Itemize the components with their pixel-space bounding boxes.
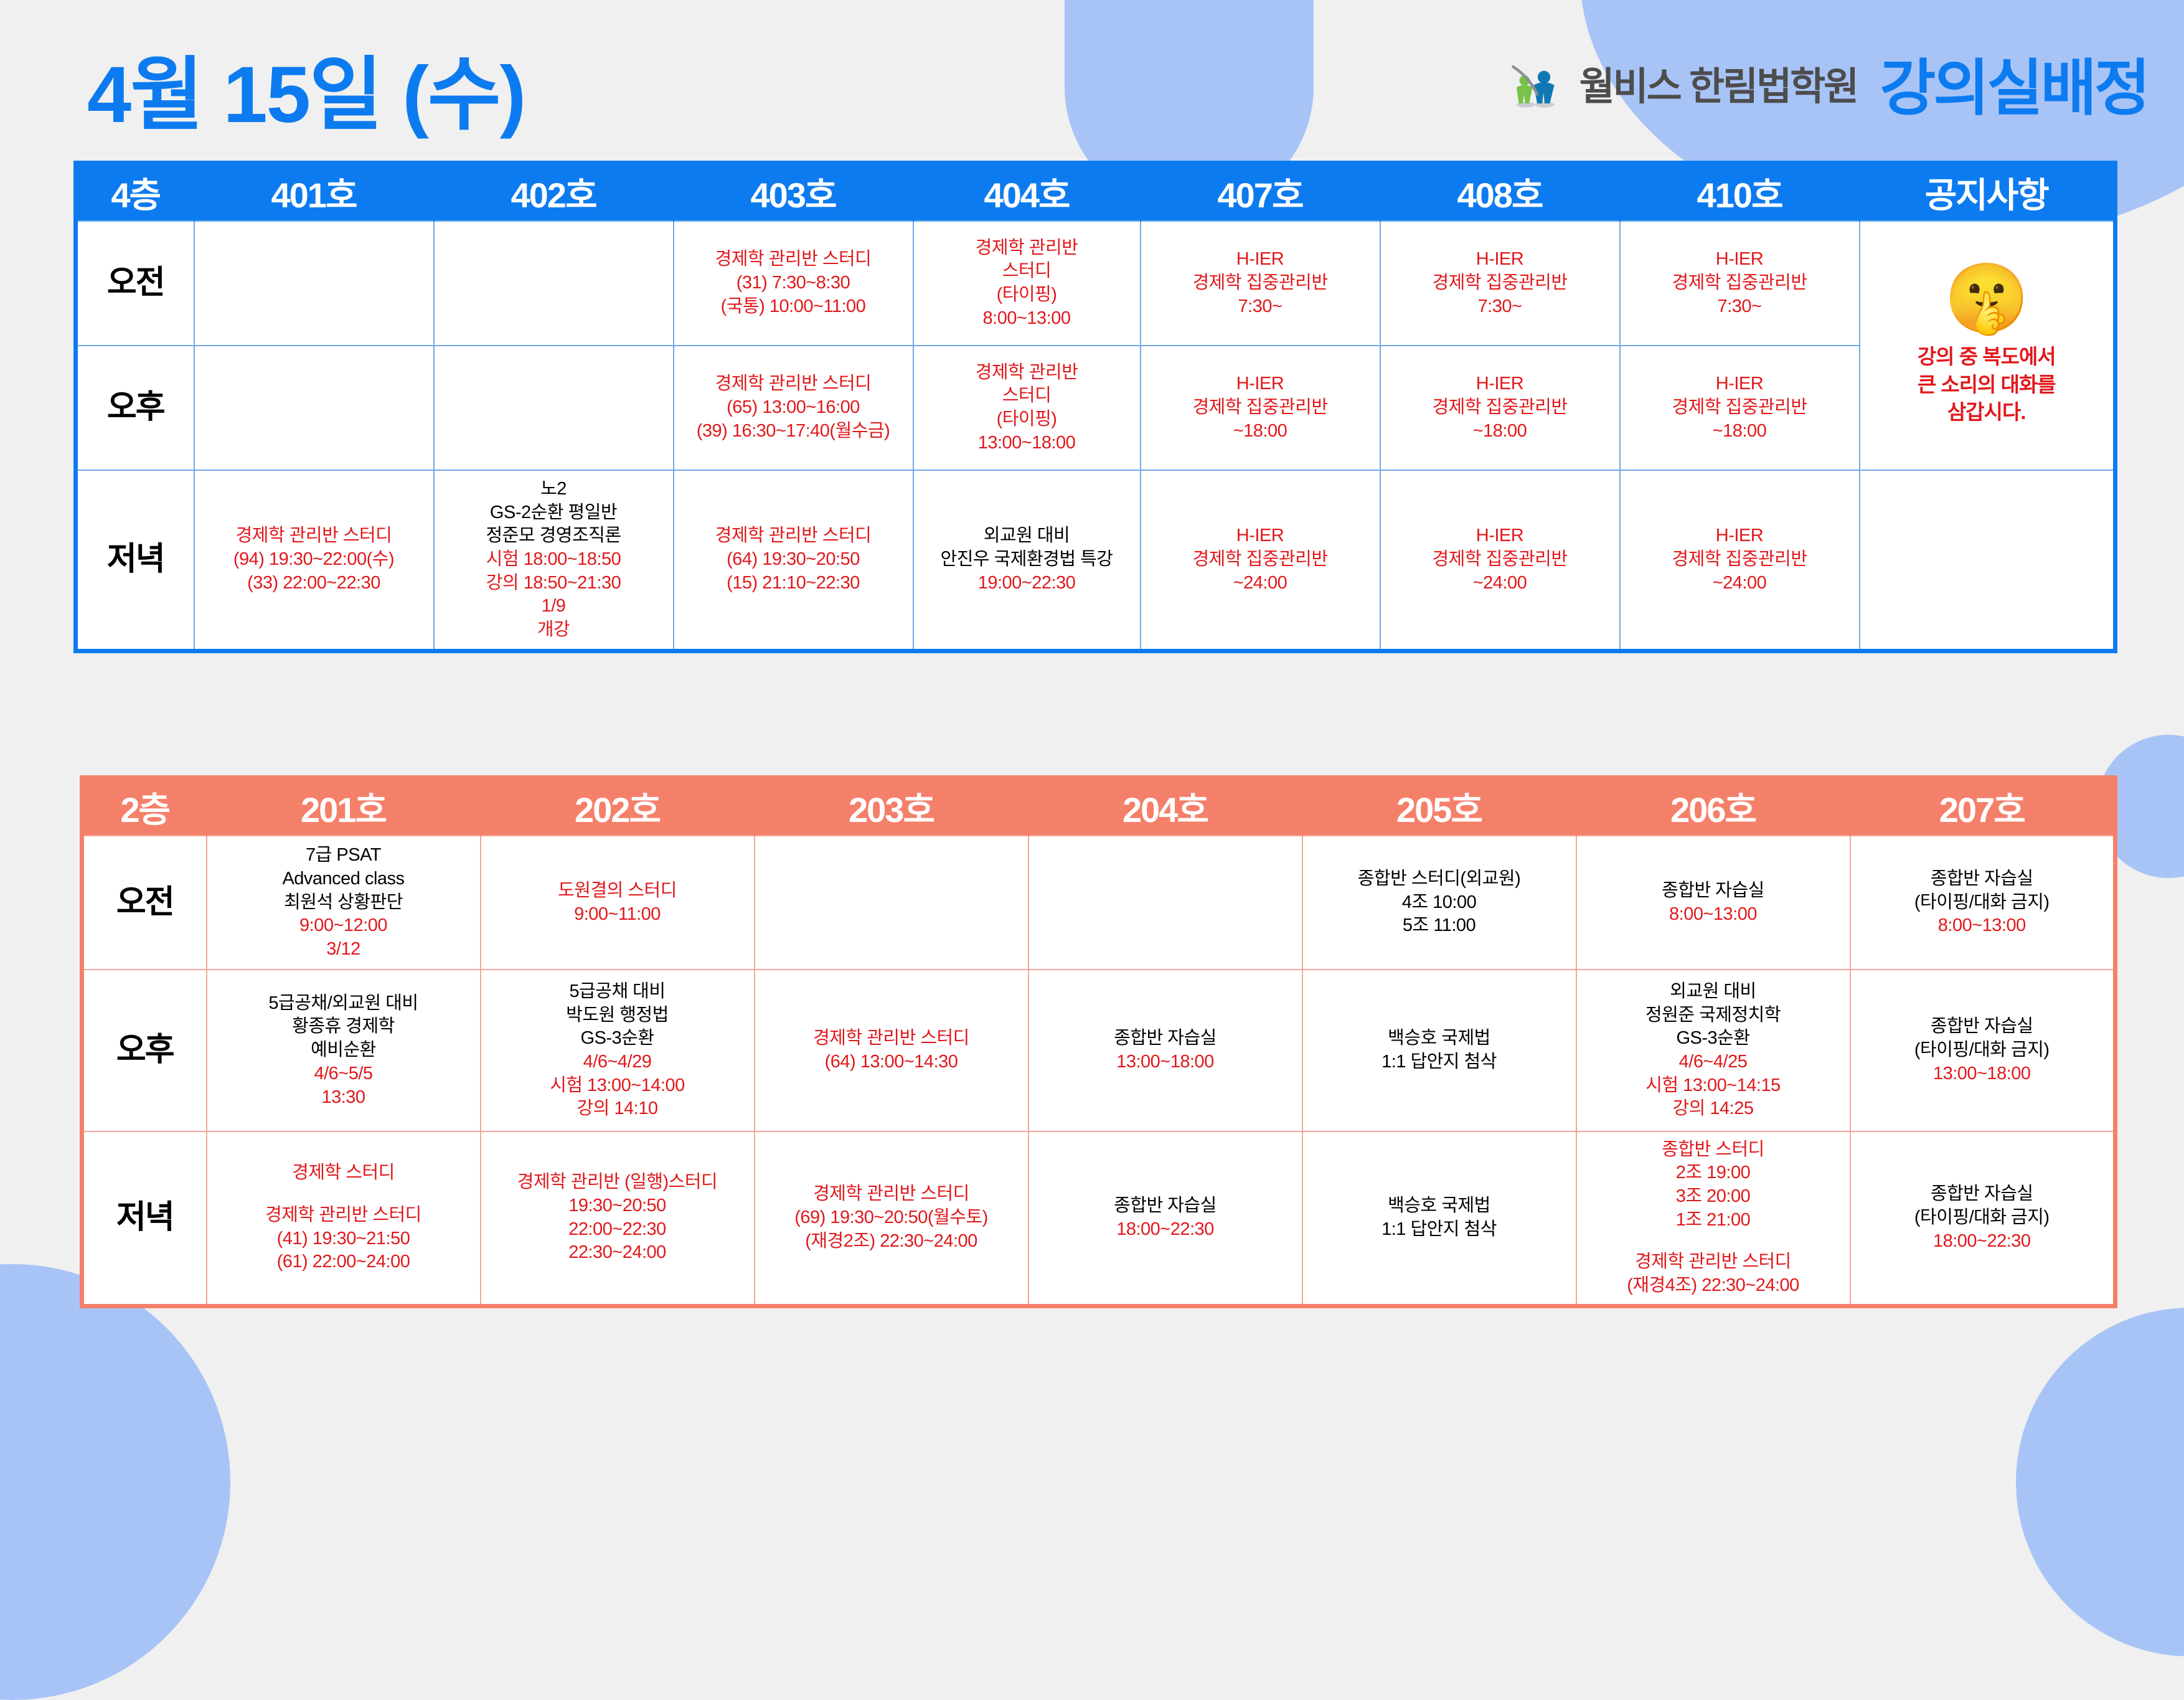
cell-line: H-IER — [1145, 524, 1376, 548]
cell-line: 종합반 자습실 — [1855, 867, 2110, 891]
column-header-408: 408호 — [1380, 163, 1620, 222]
cell-line: (타이핑) — [918, 408, 1136, 432]
cell-f2-evening-203: 경제학 관리반 스터디(69) 19:30~20:50(월수토)(재경2조) 2… — [755, 1131, 1028, 1306]
column-header-404: 404호 — [913, 163, 1141, 222]
cell-line: (64) 19:30~20:50 — [678, 548, 909, 572]
cell-f4-afternoon-401 — [194, 346, 434, 470]
cell-line: 경제학 관리반 스터디 — [199, 524, 430, 548]
cell-f4-morning-403: 경제학 관리반 스터디(31) 7:30~8:30(국통) 10:00~11:0… — [674, 221, 913, 346]
cell-f2-evening-206: 종합반 스터디2조 19:003조 20:001조 21:00경제학 관리반 스… — [1576, 1131, 1850, 1306]
cell-line: (64) 13:00~14:30 — [759, 1051, 1024, 1074]
table-row: 오전 7급 PSATAdvanced class최원석 상황판단9:00~12:… — [82, 836, 2116, 970]
cell-line: 9:00~11:00 — [485, 903, 750, 927]
cell-f4-afternoon-402 — [434, 346, 674, 470]
column-header-403: 403호 — [674, 163, 913, 222]
cell-line: (94) 19:30~22:00(수) — [199, 548, 430, 572]
cell-line: 경제학 관리반 스터디 — [759, 1183, 1024, 1206]
cell-content: 백승호 국제법1:1 답안지 첨삭 — [1307, 1194, 1572, 1241]
cell-line: 노2 — [438, 478, 669, 501]
cell-content: H-IER경제학 집중관리반~18:00 — [1624, 372, 1855, 443]
cell-content: 경제학 관리반 스터디(31) 7:30~8:30(국통) 10:00~11:0… — [678, 248, 909, 318]
cell-line: 8:00~13:00 — [1581, 903, 1846, 927]
cell-line: 종합반 자습실 — [1033, 1194, 1298, 1218]
cell-f4-evening-notice — [1860, 470, 2116, 651]
cell-f2-morning-201: 7급 PSATAdvanced class최원석 상황판단9:00~12:003… — [207, 836, 481, 970]
cell-line: 종합반 자습실 — [1033, 1027, 1298, 1051]
cell-line: 경제학 집중관리반 — [1624, 272, 1855, 295]
cell-line: 경제학 관리반 — [918, 237, 1136, 260]
cell-f4-afternoon-410: H-IER경제학 집중관리반~18:00 — [1620, 346, 1860, 470]
column-header-207: 207호 — [1850, 778, 2116, 836]
cell-line: 강의 14:10 — [485, 1097, 750, 1121]
cell-content: 종합반 스터디2조 19:003조 20:001조 21:00경제학 관리반 스… — [1581, 1138, 1846, 1298]
notice-line-1: 강의 중 복도에서 — [1918, 343, 2056, 371]
cell-line: 13:00~18:00 — [918, 432, 1136, 455]
cell-line: 백승호 국제법 — [1307, 1194, 1572, 1218]
cell-line: ~18:00 — [1624, 420, 1855, 443]
table-header-row-floor2: 2층 201호 202호 203호 204호 205호 206호 207호 — [82, 778, 2116, 836]
column-header-203: 203호 — [755, 778, 1028, 836]
cell-line: GS-2순환 평일반 — [438, 501, 669, 525]
cell-line: (39) 16:30~17:40(월수금) — [678, 420, 909, 443]
cell-line: 경제학 집중관리반 — [1145, 548, 1376, 572]
cell-line: 경제학 스터디 — [211, 1161, 476, 1185]
cell-line: 5급공채/외교원 대비 — [211, 992, 476, 1016]
cell-line: 경제학 관리반 스터디 — [678, 372, 909, 396]
cell-line: 개강 — [438, 618, 669, 642]
table-row: 저녁 경제학 관리반 스터디(94) 19:30~22:00(수)(33) 22… — [76, 470, 2116, 651]
cell-line: 4/6~5/5 — [211, 1062, 476, 1086]
cell-f4-morning-408: H-IER경제학 집중관리반7:30~ — [1380, 221, 1620, 346]
cell-f2-evening-205: 백승호 국제법1:1 답안지 첨삭 — [1302, 1131, 1576, 1306]
cell-f2-afternoon-202: 5급공채 대비박도원 행정법GS-3순환4/6~4/29시험 13:00~14:… — [481, 970, 755, 1131]
cell-line: 종합반 스터디(외교원) — [1307, 867, 1572, 891]
cell-content: H-IER경제학 집중관리반~24:00 — [1145, 524, 1376, 595]
cell-f4-afternoon-408: H-IER경제학 집중관리반~18:00 — [1380, 346, 1620, 470]
cell-line: 경제학 관리반 스터디 — [759, 1027, 1024, 1051]
column-header-notice: 공지사항 — [1860, 163, 2116, 222]
cell-line: 경제학 집중관리반 — [1624, 396, 1855, 420]
cell-line: (재경2조) 22:30~24:00 — [759, 1230, 1024, 1254]
column-header-205: 205호 — [1302, 778, 1576, 836]
cell-content: 백승호 국제법1:1 답안지 첨삭 — [1307, 1027, 1572, 1074]
cell-line: 경제학 집중관리반 — [1385, 548, 1616, 572]
cell-line: 종합반 자습실 — [1855, 1183, 2110, 1206]
cell-line: 18:00~22:30 — [1033, 1218, 1298, 1242]
cell-line: 경제학 관리반 — [918, 361, 1136, 385]
cell-content: 종합반 자습실(타이핑/대화 금지)18:00~22:30 — [1855, 1183, 2110, 1253]
cell-content: 경제학 관리반스터디(타이핑)8:00~13:00 — [918, 237, 1136, 331]
cell-line: ~24:00 — [1385, 572, 1616, 595]
cell-f4-evening-402: 노2GS-2순환 평일반정준모 경영조직론시험 18:00~18:50강의 18… — [434, 470, 674, 651]
cell-line: 경제학 관리반 스터디 — [1581, 1250, 1846, 1274]
cell-content: 경제학 관리반스터디(타이핑)13:00~18:00 — [918, 361, 1136, 455]
cell-line: H-IER — [1385, 248, 1616, 272]
cell-line: 강의 14:25 — [1581, 1097, 1846, 1121]
row-label-afternoon-f4: 오후 — [76, 346, 194, 470]
cell-line-spacer — [211, 1185, 476, 1204]
cell-f4-evening-404: 외교원 대비안진우 국제환경법 특강19:00~22:30 — [913, 470, 1141, 651]
cell-line: 7:30~ — [1385, 295, 1616, 319]
cell-f2-afternoon-204: 종합반 자습실13:00~18:00 — [1028, 970, 1302, 1131]
cell-line: 종합반 스터디 — [1581, 1138, 1846, 1162]
cell-line: 9:00~12:00 — [211, 914, 476, 938]
column-header-401: 401호 — [194, 163, 434, 222]
column-header-206: 206호 — [1576, 778, 1850, 836]
cell-line: 도원결의 스터디 — [485, 879, 750, 903]
cell-line: 8:00~13:00 — [918, 307, 1136, 331]
cell-line: H-IER — [1385, 524, 1616, 548]
brand-name: 월비스 한림법학원 — [1579, 55, 1858, 111]
cell-f4-morning-410: H-IER경제학 집중관리반7:30~ — [1620, 221, 1860, 346]
cell-f2-morning-202: 도원결의 스터디9:00~11:00 — [481, 836, 755, 970]
cell-content: 5급공채/외교원 대비황종휴 경제학예비순환4/6~5/513:30 — [211, 992, 476, 1109]
cell-line: H-IER — [1624, 372, 1855, 396]
cell-line: 강의 18:50~21:30 — [438, 572, 669, 595]
cell-content: 외교원 대비정원준 국제정치학GS-3순환4/6~4/25시험 13:00~14… — [1581, 980, 1846, 1121]
cell-line: 13:30 — [211, 1086, 476, 1110]
cell-line: 13:00~18:00 — [1033, 1051, 1298, 1074]
cell-line: 박도원 행정법 — [485, 1004, 750, 1027]
cell-line: Advanced class — [211, 867, 476, 891]
cell-line: 19:00~22:30 — [918, 572, 1136, 595]
cell-line: 경제학 집중관리반 — [1385, 396, 1616, 420]
table-row: 저녁 경제학 스터디경제학 관리반 스터디(41) 19:30~21:50(61… — [82, 1131, 2116, 1306]
column-header-410: 410호 — [1620, 163, 1860, 222]
cell-line: (타이핑/대화 금지) — [1855, 891, 2110, 915]
cell-f2-evening-204: 종합반 자습실18:00~22:30 — [1028, 1131, 1302, 1306]
cell-line: (타이핑/대화 금지) — [1855, 1039, 2110, 1062]
table-row: 오후 경제학 관리반 스터디(65) 13:00~16:00(39) 16:30… — [76, 346, 2116, 470]
cell-line: 최원석 상황판단 — [211, 891, 476, 915]
cell-line: 7급 PSAT — [211, 844, 476, 867]
table-row: 오전 경제학 관리반 스터디(31) 7:30~8:30(국통) 10:00~1… — [76, 221, 2116, 346]
column-header-202: 202호 — [481, 778, 755, 836]
cell-line: (33) 22:00~22:30 — [199, 572, 430, 595]
cell-content: H-IER경제학 집중관리반~18:00 — [1145, 372, 1376, 443]
cell-line: H-IER — [1624, 248, 1855, 272]
cell-f2-evening-207: 종합반 자습실(타이핑/대화 금지)18:00~22:30 — [1850, 1131, 2116, 1306]
cell-line: 19:30~20:50 — [485, 1194, 750, 1218]
cell-line: 4/6~4/29 — [485, 1051, 750, 1074]
cell-line: 경제학 집중관리반 — [1145, 396, 1376, 420]
cell-content: 경제학 관리반 스터디(64) 13:00~14:30 — [759, 1027, 1024, 1074]
cell-line: 1:1 답안지 첨삭 — [1307, 1218, 1572, 1242]
cell-line: 5급공채 대비 — [485, 980, 750, 1004]
cell-line: 1조 21:00 — [1581, 1209, 1846, 1232]
cell-line: GS-3순환 — [1581, 1027, 1846, 1051]
cell-line: ~24:00 — [1145, 572, 1376, 595]
cell-content: H-IER경제학 집중관리반7:30~ — [1145, 248, 1376, 318]
cell-line: 경제학 관리반 (일행)스터디 — [485, 1171, 750, 1194]
row-label-morning-f4: 오전 — [76, 221, 194, 346]
cell-line: 시험 18:00~18:50 — [438, 548, 669, 572]
cell-f2-evening-202: 경제학 관리반 (일행)스터디19:30~20:5022:00~22:3022:… — [481, 1131, 755, 1306]
page-header: 4월 15일 (수) 월비스 한림법학원 강의실배정 — [0, 0, 2184, 156]
cell-content: H-IER경제학 집중관리반~24:00 — [1624, 524, 1855, 595]
schedule-table-floor2: 2층 201호 202호 203호 204호 205호 206호 207호 오전… — [80, 775, 2117, 1308]
cell-content: 종합반 자습실8:00~13:00 — [1581, 879, 1846, 926]
cell-content: 5급공채 대비박도원 행정법GS-3순환4/6~4/29시험 13:00~14:… — [485, 980, 750, 1121]
cell-line: 스터디 — [918, 384, 1136, 408]
cell-f2-morning-204 — [1028, 836, 1302, 970]
cell-line: (69) 19:30~20:50(월수토) — [759, 1206, 1024, 1230]
cell-f2-morning-206: 종합반 자습실8:00~13:00 — [1576, 836, 1850, 970]
cell-content: 경제학 관리반 스터디(64) 19:30~20:50(15) 21:10~22… — [678, 524, 909, 595]
cell-line: GS-3순환 — [485, 1027, 750, 1051]
floor-label-2: 2층 — [82, 778, 207, 836]
cell-content: 노2GS-2순환 평일반정준모 경영조직론시험 18:00~18:50강의 18… — [438, 478, 669, 642]
cell-f2-afternoon-206: 외교원 대비정원준 국제정치학GS-3순환4/6~4/25시험 13:00~14… — [1576, 970, 1850, 1131]
notice-line-2: 큰 소리의 대화를 — [1918, 371, 2056, 399]
cell-line: 경제학 관리반 스터디 — [678, 248, 909, 272]
decorative-circle-bottom-right — [2016, 1308, 2184, 1656]
notice-cell: 🤫 강의 중 복도에서 큰 소리의 대화를 삼갑시다. — [1860, 221, 2116, 470]
cell-line: (타이핑) — [918, 283, 1136, 307]
cell-line: (41) 19:30~21:50 — [211, 1227, 476, 1251]
cell-line: 1/9 — [438, 595, 669, 618]
cell-f4-morning-402 — [434, 221, 674, 346]
cell-line: 3조 20:00 — [1581, 1185, 1846, 1209]
cell-content: 종합반 자습실18:00~22:30 — [1033, 1194, 1298, 1241]
cell-content: H-IER경제학 집중관리반7:30~ — [1624, 248, 1855, 318]
cell-line: H-IER — [1145, 372, 1376, 396]
cell-f4-evening-401: 경제학 관리반 스터디(94) 19:30~22:00(수)(33) 22:00… — [194, 470, 434, 651]
cell-f4-evening-408: H-IER경제학 집중관리반~24:00 — [1380, 470, 1620, 651]
cell-line: (재경4조) 22:30~24:00 — [1581, 1274, 1846, 1298]
row-label-morning-f2: 오전 — [82, 836, 207, 970]
cell-line: 4/6~4/25 — [1581, 1051, 1846, 1074]
cell-content: 경제학 관리반 (일행)스터디19:30~20:5022:00~22:3022:… — [485, 1171, 750, 1265]
cell-f2-afternoon-203: 경제학 관리반 스터디(64) 13:00~14:30 — [755, 970, 1028, 1131]
cell-content: 경제학 관리반 스터디(69) 19:30~20:50(월수토)(재경2조) 2… — [759, 1183, 1024, 1253]
column-header-201: 201호 — [207, 778, 481, 836]
row-label-evening-f4: 저녁 — [76, 470, 194, 651]
cell-f4-morning-407: H-IER경제학 집중관리반7:30~ — [1141, 221, 1380, 346]
cell-line: 외교원 대비 — [1581, 980, 1846, 1004]
cell-line: (타이핑/대화 금지) — [1855, 1206, 2110, 1230]
cell-line: 경제학 관리반 스터디 — [211, 1204, 476, 1227]
cell-line: 시험 13:00~14:15 — [1581, 1074, 1846, 1098]
column-header-402: 402호 — [434, 163, 674, 222]
table-row: 오후 5급공채/외교원 대비황종휴 경제학예비순환4/6~5/513:30 5급… — [82, 970, 2116, 1131]
cell-f4-evening-410: H-IER경제학 집중관리반~24:00 — [1620, 470, 1860, 651]
cell-line: (15) 21:10~22:30 — [678, 572, 909, 595]
cell-f2-afternoon-201: 5급공채/외교원 대비황종휴 경제학예비순환4/6~5/513:30 — [207, 970, 481, 1131]
cell-f2-afternoon-205: 백승호 국제법1:1 답안지 첨삭 — [1302, 970, 1576, 1131]
cell-f4-afternoon-404: 경제학 관리반스터디(타이핑)13:00~18:00 — [913, 346, 1141, 470]
row-label-afternoon-f2: 오후 — [82, 970, 207, 1131]
schedule-table-floor4: 4층 401호 402호 403호 404호 407호 408호 410호 공지… — [73, 161, 2117, 653]
cell-line: ~24:00 — [1624, 572, 1855, 595]
cell-f2-morning-203 — [755, 836, 1028, 970]
page-title: 4월 15일 (수) — [87, 30, 525, 145]
cell-line: (31) 7:30~8:30 — [678, 272, 909, 295]
cell-line: 18:00~22:30 — [1855, 1230, 2110, 1254]
cell-line: 종합반 자습실 — [1581, 879, 1846, 903]
cell-f4-morning-404: 경제학 관리반스터디(타이핑)8:00~13:00 — [913, 221, 1141, 346]
cell-line-spacer — [1581, 1232, 1846, 1250]
cell-line: 예비순환 — [211, 1039, 476, 1062]
cell-f4-afternoon-407: H-IER경제학 집중관리반~18:00 — [1141, 346, 1380, 470]
cell-line: 안진우 국제환경법 특강 — [918, 548, 1136, 572]
row-label-evening-f2: 저녁 — [82, 1131, 207, 1306]
column-header-407: 407호 — [1141, 163, 1380, 222]
decorative-circle-bottom-left — [0, 1264, 230, 1700]
cell-f2-evening-201: 경제학 스터디경제학 관리반 스터디(41) 19:30~21:50(61) 2… — [207, 1131, 481, 1306]
cell-f2-afternoon-207: 종합반 자습실(타이핑/대화 금지)13:00~18:00 — [1850, 970, 2116, 1131]
cell-content: 종합반 자습실(타이핑/대화 금지)13:00~18:00 — [1855, 1015, 2110, 1085]
cell-content: 경제학 관리반 스터디(94) 19:30~22:00(수)(33) 22:00… — [199, 524, 430, 595]
cell-line: 정준모 경영조직론 — [438, 524, 669, 548]
cell-content: 경제학 관리반 스터디(65) 13:00~16:00(39) 16:30~17… — [678, 372, 909, 443]
cell-content: 종합반 스터디(외교원)4조 10:005조 11:00 — [1307, 867, 1572, 938]
cell-line: (65) 13:00~16:00 — [678, 396, 909, 420]
cell-line: ~18:00 — [1385, 420, 1616, 443]
cell-line: ~18:00 — [1145, 420, 1376, 443]
cell-content: 7급 PSATAdvanced class최원석 상황판단9:00~12:003… — [211, 844, 476, 961]
cell-line: 외교원 대비 — [918, 524, 1136, 548]
cell-line: 5조 11:00 — [1307, 914, 1572, 938]
cell-line: H-IER — [1145, 248, 1376, 272]
cell-f4-evening-403: 경제학 관리반 스터디(64) 19:30~20:50(15) 21:10~22… — [674, 470, 913, 651]
cell-f4-morning-401 — [194, 221, 434, 346]
cell-line: 13:00~18:00 — [1855, 1062, 2110, 1086]
column-header-204: 204호 — [1028, 778, 1302, 836]
cell-content: H-IER경제학 집중관리반7:30~ — [1385, 248, 1616, 318]
cell-line: 경제학 집중관리반 — [1385, 272, 1616, 295]
cell-line: 종합반 자습실 — [1855, 1015, 2110, 1039]
cell-line: H-IER — [1385, 372, 1616, 396]
brand-block: 월비스 한림법학원 강의실배정 — [1509, 39, 2148, 127]
cell-line: 1:1 답안지 첨삭 — [1307, 1051, 1572, 1074]
shushing-face-emoji: 🤫 — [1944, 265, 2029, 333]
cell-line: 4조 10:00 — [1307, 891, 1572, 915]
notice-line-3: 삼갑시다. — [1918, 399, 2056, 427]
cell-content: 도원결의 스터디9:00~11:00 — [485, 879, 750, 926]
cell-line: 3/12 — [211, 938, 476, 961]
cell-line: 백승호 국제법 — [1307, 1027, 1572, 1051]
cell-line: 경제학 집중관리반 — [1145, 272, 1376, 295]
cell-f2-morning-205: 종합반 스터디(외교원)4조 10:005조 11:00 — [1302, 836, 1576, 970]
cell-line: 시험 13:00~14:00 — [485, 1074, 750, 1098]
cell-f4-evening-407: H-IER경제학 집중관리반~24:00 — [1141, 470, 1380, 651]
cell-f2-morning-207: 종합반 자습실(타이핑/대화 금지)8:00~13:00 — [1850, 836, 2116, 970]
cell-line: 경제학 관리반 스터디 — [678, 524, 909, 548]
floor-label-4: 4층 — [76, 163, 194, 222]
cell-line: 7:30~ — [1624, 295, 1855, 319]
notice-text: 강의 중 복도에서 큰 소리의 대화를 삼갑시다. — [1918, 343, 2056, 427]
cell-content: 외교원 대비안진우 국제환경법 특강19:00~22:30 — [918, 524, 1136, 595]
cell-line: (국통) 10:00~11:00 — [678, 295, 909, 319]
cell-content: 종합반 자습실(타이핑/대화 금지)8:00~13:00 — [1855, 867, 2110, 938]
table-header-row-floor4: 4층 401호 402호 403호 404호 407호 408호 410호 공지… — [76, 163, 2116, 222]
cell-line: H-IER — [1624, 524, 1855, 548]
cell-content: H-IER경제학 집중관리반~18:00 — [1385, 372, 1616, 443]
cell-line: 황종휴 경제학 — [211, 1015, 476, 1039]
cell-line: 경제학 집중관리반 — [1624, 548, 1855, 572]
cell-line: 22:00~22:30 — [485, 1218, 750, 1242]
cell-line: (61) 22:00~24:00 — [211, 1250, 476, 1274]
cell-line: 22:30~24:00 — [485, 1241, 750, 1265]
cell-line: 2조 19:00 — [1581, 1161, 1846, 1185]
cell-content: H-IER경제학 집중관리반~24:00 — [1385, 524, 1616, 595]
cell-line: 7:30~ — [1145, 295, 1376, 319]
cell-content: 경제학 스터디경제학 관리반 스터디(41) 19:30~21:50(61) 2… — [211, 1161, 476, 1274]
document-kind-title: 강의실배정 — [1880, 39, 2148, 127]
cell-line: 정원준 국제정치학 — [1581, 1004, 1846, 1027]
cell-line: 8:00~13:00 — [1855, 914, 2110, 938]
people-logo-icon — [1509, 54, 1566, 111]
cell-content: 종합반 자습실13:00~18:00 — [1033, 1027, 1298, 1074]
cell-line: 스터디 — [918, 260, 1136, 283]
cell-f4-afternoon-403: 경제학 관리반 스터디(65) 13:00~16:00(39) 16:30~17… — [674, 346, 913, 470]
